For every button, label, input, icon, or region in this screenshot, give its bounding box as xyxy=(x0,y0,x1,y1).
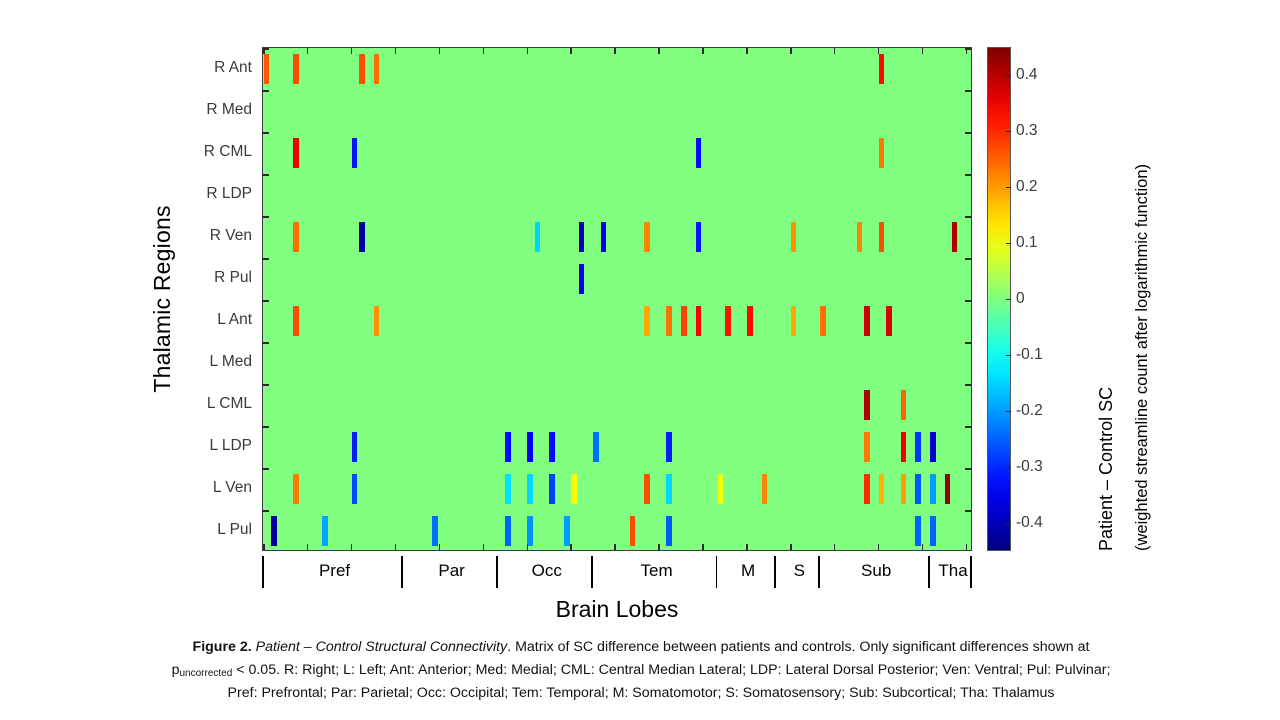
heatmap-cell xyxy=(725,306,731,336)
heatmap-cell xyxy=(879,474,885,504)
heatmap-cell xyxy=(886,306,892,336)
heatmap-cell xyxy=(322,516,328,546)
x-axis-tick xyxy=(922,544,924,550)
y-axis-tick xyxy=(263,132,269,134)
x-axis-tick-top xyxy=(790,48,792,54)
x-axis-tick xyxy=(351,544,353,550)
x-axis-tick xyxy=(790,544,792,550)
caption-line-2: puncorrected < 0.05. R: Right; L: Left; … xyxy=(172,662,1111,678)
lobe-label-occ: Occ xyxy=(496,560,597,582)
heatmap-cell xyxy=(864,390,870,420)
colorbar-tick xyxy=(1006,131,1011,132)
lobe-divider xyxy=(774,556,776,588)
heatmap-cell xyxy=(359,222,365,252)
x-axis-tick-top xyxy=(351,48,353,54)
colorbar-tick-label: 0.3 xyxy=(1016,122,1038,140)
heatmap-cell xyxy=(879,138,885,168)
y-axis-tick xyxy=(263,174,269,176)
heatmap-cell xyxy=(718,474,724,504)
y-tick-label-l-ldp: L LDP xyxy=(180,425,252,467)
y-axis-tick-right xyxy=(965,384,971,386)
heatmap-cell xyxy=(666,474,672,504)
y-axis-tick-right xyxy=(965,300,971,302)
y-axis-tick-right xyxy=(965,468,971,470)
heatmap-cell xyxy=(601,222,607,252)
lobe-label-par: Par xyxy=(401,560,502,582)
y-axis-tick xyxy=(263,216,269,218)
y-axis-tick-right xyxy=(965,258,971,260)
y-axis-tick xyxy=(263,90,269,92)
heatmap-cell xyxy=(666,306,672,336)
colorbar-tick-labels: 0.40.30.20.10-0.1-0.2-0.3-0.4 xyxy=(1016,47,1060,551)
heatmap-cell xyxy=(696,306,702,336)
x-axis-tick-top xyxy=(922,48,924,54)
x-axis-tick-top xyxy=(307,48,309,54)
heatmap-cell xyxy=(505,474,511,504)
y-axis-tick xyxy=(263,510,269,512)
heatmap-cell xyxy=(791,222,797,252)
heatmap-cell xyxy=(271,516,277,546)
caption-line-1: Figure 2. Patient – Control Structural C… xyxy=(193,639,1090,655)
heatmap-cell xyxy=(571,474,577,504)
colorbar-tick xyxy=(1006,411,1011,412)
x-axis-tick-top xyxy=(570,48,572,54)
heatmap-cell xyxy=(374,306,380,336)
heatmap-cell xyxy=(864,432,870,462)
y-axis-title: Thalamic Regions xyxy=(145,47,179,551)
lobe-label-m: M xyxy=(716,560,781,582)
x-axis-tick-top xyxy=(439,48,441,54)
x-axis-tick-top xyxy=(878,48,880,54)
heatmap-cell xyxy=(696,222,702,252)
y-axis-tick-right xyxy=(965,90,971,92)
heatmap-cell xyxy=(901,390,907,420)
heatmap-cell xyxy=(505,432,511,462)
x-axis-tick xyxy=(878,544,880,550)
heatmap-cell xyxy=(864,306,870,336)
heatmap-cell xyxy=(879,54,885,84)
colorbar-tick-label: 0.2 xyxy=(1016,178,1038,196)
heatmap-cell xyxy=(374,54,380,84)
heatmap-cell xyxy=(644,222,650,252)
x-axis-tick-top xyxy=(658,48,660,54)
heatmap-cell xyxy=(930,432,936,462)
caption-line-3: Pref: Prefrontal; Par: Parietal; Occ: Oc… xyxy=(228,685,1055,701)
y-axis-tick xyxy=(263,342,269,344)
figure-caption: Figure 2. Patient – Control Structural C… xyxy=(96,636,1186,705)
lobe-divider xyxy=(716,556,718,588)
lobe-divider xyxy=(970,556,972,588)
x-axis-tick xyxy=(307,544,309,550)
x-axis-tick-top xyxy=(483,48,485,54)
heatmap-cell xyxy=(432,516,438,546)
heatmap-cell xyxy=(352,138,358,168)
heatmap-cell xyxy=(527,432,533,462)
y-axis-tick xyxy=(263,426,269,428)
x-axis-tick xyxy=(395,544,397,550)
heatmap-cell xyxy=(644,306,650,336)
colorbar-tick-label: 0.4 xyxy=(1016,66,1038,84)
x-axis-tick-top xyxy=(834,48,836,54)
heatmap-cell xyxy=(864,474,870,504)
heatmap-cell xyxy=(293,222,299,252)
y-tick-label-l-pul: L Pul xyxy=(180,509,252,551)
lobe-divider xyxy=(818,556,820,588)
heatmap-cell xyxy=(879,222,885,252)
lobe-label-pref: Pref xyxy=(262,560,407,582)
colorbar-ticks xyxy=(987,47,1011,551)
colorbar-tick-label: -0.4 xyxy=(1016,514,1043,532)
lobe-label-sub: Sub xyxy=(818,560,934,582)
y-tick-label-r-pul: R Pul xyxy=(180,257,252,299)
heatmap-cell xyxy=(549,474,555,504)
heatmap-cell xyxy=(952,222,958,252)
caption-figure-label: Figure 2. xyxy=(193,639,252,655)
colorbar-tick-label: 0.1 xyxy=(1016,234,1038,252)
heatmap-cell xyxy=(901,432,907,462)
colorbar-tick-label: 0 xyxy=(1016,290,1025,308)
heatmap-cell xyxy=(696,138,702,168)
heatmap-cell xyxy=(352,474,358,504)
caption-line2-text: < 0.05. R: Right; L: Left; Ant: Anterior… xyxy=(232,662,1110,678)
heatmap-cell xyxy=(791,306,797,336)
heatmap-cell xyxy=(293,138,299,168)
x-axis-tick xyxy=(702,544,704,550)
colorbar-tick xyxy=(1006,75,1011,76)
colorbar-tick-label: -0.3 xyxy=(1016,458,1043,476)
colorbar-tick xyxy=(1006,523,1011,524)
heatmap-cell xyxy=(644,474,650,504)
x-axis-tick xyxy=(439,544,441,550)
heatmap-cell xyxy=(901,474,907,504)
lobe-divider xyxy=(262,556,264,588)
x-axis-tick xyxy=(834,544,836,550)
y-tick-label-r-ldp: R LDP xyxy=(180,173,252,215)
y-tick-label-l-cml: L CML xyxy=(180,383,252,425)
heatmap-cell xyxy=(549,432,555,462)
x-axis-tick xyxy=(483,544,485,550)
heatmap-cell xyxy=(747,306,753,336)
heatmap-cell xyxy=(820,306,826,336)
heatmap-cell xyxy=(579,264,585,294)
y-axis-tick xyxy=(263,300,269,302)
lobe-divider xyxy=(496,556,498,588)
lobe-label-s: S xyxy=(774,560,824,582)
colorbar-tick xyxy=(1006,355,1011,356)
heatmap-cell xyxy=(359,54,365,84)
y-axis-tick xyxy=(263,384,269,386)
x-axis-tick-top xyxy=(966,48,968,54)
x-axis-lobe-brackets: PrefParOccTemMSSubTha xyxy=(262,556,972,596)
x-axis-title: Brain Lobes xyxy=(262,595,972,623)
heatmap-cell xyxy=(293,54,299,84)
x-axis-tick xyxy=(966,544,968,550)
heatmap-cell xyxy=(352,432,358,462)
x-axis-tick xyxy=(746,544,748,550)
colorbar-tick xyxy=(1006,243,1011,244)
y-axis-tick-right xyxy=(965,132,971,134)
heatmap-cell xyxy=(681,306,687,336)
heatmap-cell xyxy=(564,516,570,546)
x-axis-tick xyxy=(614,544,616,550)
caption-p-subscript: uncorrected xyxy=(179,668,232,679)
y-tick-label-r-ant: R Ant xyxy=(180,47,252,89)
heatmap-cells xyxy=(263,48,971,550)
figure-container: Thalamic Regions R AntR MedR CMLR LDPR V… xyxy=(0,0,1280,720)
colorbar-tick xyxy=(1006,467,1011,468)
colorbar-tick xyxy=(1006,299,1011,300)
y-axis-tick-right xyxy=(965,510,971,512)
x-axis-tick xyxy=(658,544,660,550)
heatmap-cell xyxy=(527,516,533,546)
heatmap-cell xyxy=(762,474,768,504)
y-axis-tick-right xyxy=(965,174,971,176)
x-axis-tick xyxy=(263,544,265,550)
heatmap-cell xyxy=(293,306,299,336)
x-axis-tick-top xyxy=(746,48,748,54)
heatmap-cell xyxy=(666,516,672,546)
y-tick-label-l-ant: L Ant xyxy=(180,299,252,341)
x-axis-tick xyxy=(570,544,572,550)
y-axis-tick-right xyxy=(965,216,971,218)
heatmap-cell xyxy=(666,432,672,462)
colorbar-tick xyxy=(1006,187,1011,188)
heatmap-cell xyxy=(264,54,270,84)
y-axis-tick xyxy=(263,258,269,260)
heatmap-cell xyxy=(915,516,921,546)
y-axis-tick xyxy=(263,468,269,470)
heatmap-cell xyxy=(535,222,541,252)
colorbar-title-primary: Patient – Control SC xyxy=(1096,387,1117,551)
colorbar-tick-label: -0.1 xyxy=(1016,346,1043,364)
y-tick-label-r-med: R Med xyxy=(180,89,252,131)
y-tick-label-r-ven: R Ven xyxy=(180,215,252,257)
heatmap-plot xyxy=(262,47,972,551)
heatmap-cell xyxy=(945,474,951,504)
heatmap-cell xyxy=(293,474,299,504)
heatmap-cell xyxy=(579,222,585,252)
colorbar-title-secondary: (weighted streamline count after logarit… xyxy=(1133,164,1152,551)
caption-line1-rest: . Matrix of SC difference between patien… xyxy=(507,639,1089,655)
heatmap-cell xyxy=(630,516,636,546)
heatmap-cell xyxy=(915,432,921,462)
y-axis-tick-right xyxy=(965,342,971,344)
x-axis-tick-top xyxy=(527,48,529,54)
lobe-divider xyxy=(401,556,403,588)
x-axis-tick-top xyxy=(263,48,265,54)
heatmap-cell xyxy=(915,474,921,504)
x-axis-tick-top xyxy=(614,48,616,54)
y-axis-tick-right xyxy=(965,426,971,428)
lobe-label-tem: Tem xyxy=(591,560,721,582)
heatmap-cell xyxy=(505,516,511,546)
x-axis-tick-top xyxy=(395,48,397,54)
x-axis-tick-top xyxy=(702,48,704,54)
y-tick-label-r-cml: R CML xyxy=(180,131,252,173)
y-axis-tick-labels: R AntR MedR CMLR LDPR VenR PulL AntL Med… xyxy=(180,47,252,551)
heatmap-cell xyxy=(930,516,936,546)
colorbar-tick-label: -0.2 xyxy=(1016,402,1043,420)
heatmap-cell xyxy=(930,474,936,504)
lobe-divider xyxy=(928,556,930,588)
heatmap-cell xyxy=(593,432,599,462)
lobe-divider xyxy=(591,556,593,588)
heatmap-cell xyxy=(857,222,863,252)
y-tick-label-l-med: L Med xyxy=(180,341,252,383)
caption-figure-title: Patient – Control Structural Connectivit… xyxy=(256,639,508,655)
x-axis-tick xyxy=(527,544,529,550)
y-tick-label-l-ven: L Ven xyxy=(180,467,252,509)
heatmap-cell xyxy=(527,474,533,504)
